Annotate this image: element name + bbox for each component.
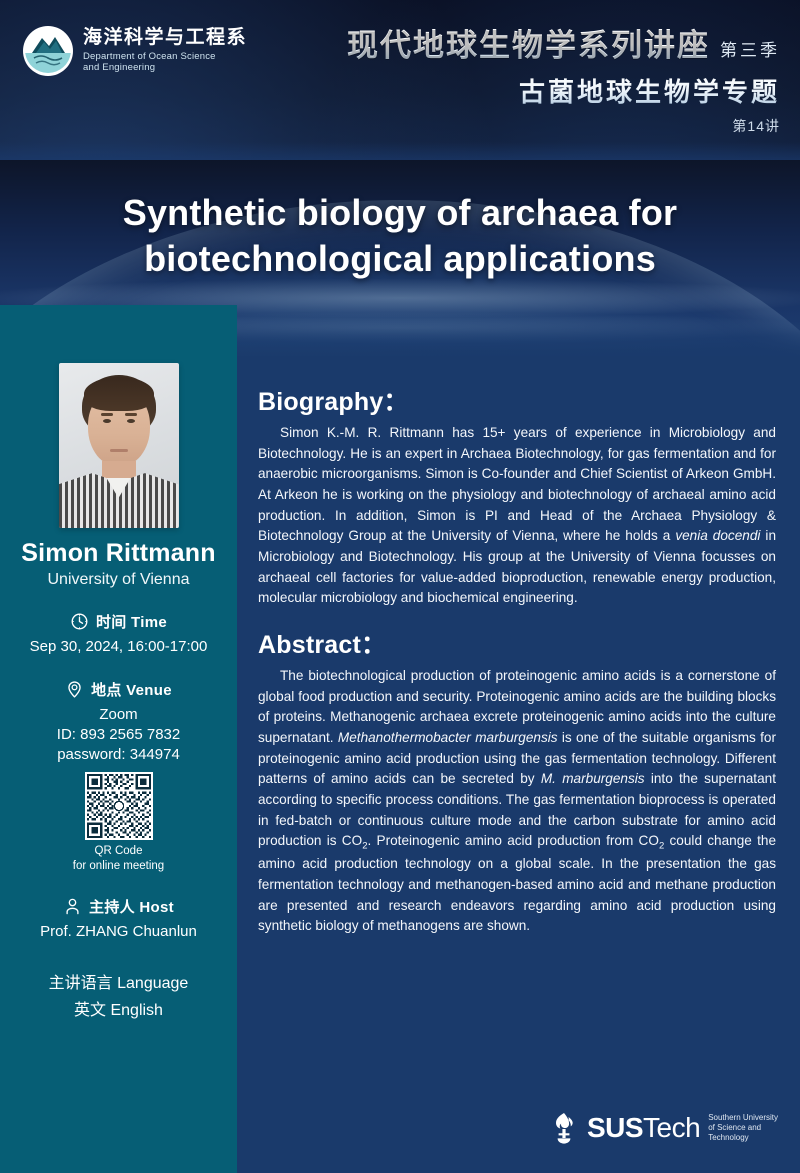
lecture-poster: 海洋科学与工程系 Department of Ocean Science and… bbox=[0, 0, 800, 1173]
speaker-affiliation: University of Vienna bbox=[48, 571, 190, 589]
department-logo-text: 海洋科学与工程系 Department of Ocean Science and… bbox=[83, 28, 247, 75]
series-banner: 现代地球生物学系列讲座 第三季 古菌地球生物学专题 第14讲 bbox=[347, 20, 780, 136]
clock-icon bbox=[70, 612, 89, 631]
host-name: Prof. ZHANG Chuanlun bbox=[0, 922, 237, 942]
sustech-torch-icon bbox=[549, 1111, 579, 1145]
venue-block: 地点 Venue Zoom ID: 893 2565 7832 password… bbox=[0, 679, 237, 874]
time-label-row: 时间 Time bbox=[0, 611, 237, 632]
department-logo: 海洋科学与工程系 Department of Ocean Science and… bbox=[22, 25, 247, 77]
venue-meeting-id: ID: 893 2565 7832 bbox=[0, 725, 237, 745]
host-label: 主持人 Host bbox=[89, 896, 174, 917]
poster-header: 海洋科学与工程系 Department of Ocean Science and… bbox=[0, 0, 800, 160]
talk-title: Synthetic biology of archaea for biotech… bbox=[0, 190, 800, 282]
department-name-en: Department of Ocean Science and Engineer… bbox=[83, 51, 247, 75]
sustech-wordmark: SUSTech bbox=[587, 1114, 700, 1142]
abstract-text: The biotechnological production of prote… bbox=[258, 666, 776, 937]
location-pin-icon bbox=[65, 680, 84, 699]
department-name-cn: 海洋科学与工程系 bbox=[83, 28, 247, 49]
venue-label: 地点 Venue bbox=[91, 679, 172, 700]
venue-label-row: 地点 Venue bbox=[0, 679, 237, 700]
time-label: 时间 Time bbox=[96, 611, 167, 632]
abstract-heading: Abstract： bbox=[258, 625, 776, 661]
language-label: 主讲语言 Language bbox=[0, 973, 237, 994]
host-label-row: 主持人 Host bbox=[0, 896, 237, 917]
language-block: 主讲语言 Language 英文 English bbox=[0, 968, 237, 1021]
venue-password: password: 344974 bbox=[0, 745, 237, 765]
ocean-department-emblem-icon bbox=[22, 25, 74, 77]
sustech-logo: SUSTech Southern University of Science a… bbox=[549, 1111, 778, 1145]
series-title-row: 现代地球生物学系列讲座 第三季 bbox=[347, 20, 780, 65]
qr-code-caption: QR Code for online meeting bbox=[0, 844, 237, 874]
venue-details: Zoom ID: 893 2565 7832 password: 344974 bbox=[0, 705, 237, 765]
content-area: Biography： Simon K.-M. R. Rittmann has 1… bbox=[258, 382, 776, 937]
speaker-photo bbox=[59, 363, 179, 528]
biography-text: Simon K.-M. R. Rittmann has 15+ years of… bbox=[258, 423, 776, 609]
person-icon bbox=[63, 897, 82, 916]
venue-platform: Zoom bbox=[0, 705, 237, 725]
sustech-full-name: Southern University of Science and Techn… bbox=[708, 1113, 778, 1144]
speaker-sidebar: Simon Rittmann University of Vienna 时间 T… bbox=[0, 305, 237, 1173]
series-season: 第三季 bbox=[720, 36, 780, 61]
biography-heading: Biography： bbox=[258, 382, 776, 418]
series-subtitle: 古菌地球生物学专题 bbox=[347, 72, 780, 109]
qr-code-image bbox=[87, 774, 151, 838]
lecture-number: 第14讲 bbox=[347, 116, 780, 136]
series-title: 现代地球生物学系列讲座 bbox=[347, 20, 710, 65]
host-block: 主持人 Host Prof. ZHANG Chuanlun bbox=[0, 896, 237, 942]
speaker-name: Simon Rittmann bbox=[21, 539, 215, 568]
qr-code[interactable] bbox=[85, 772, 153, 840]
language-value: 英文 English bbox=[0, 1000, 237, 1021]
time-block: 时间 Time Sep 30, 2024, 16:00-17:00 bbox=[0, 611, 237, 657]
time-value: Sep 30, 2024, 16:00-17:00 bbox=[0, 637, 237, 657]
